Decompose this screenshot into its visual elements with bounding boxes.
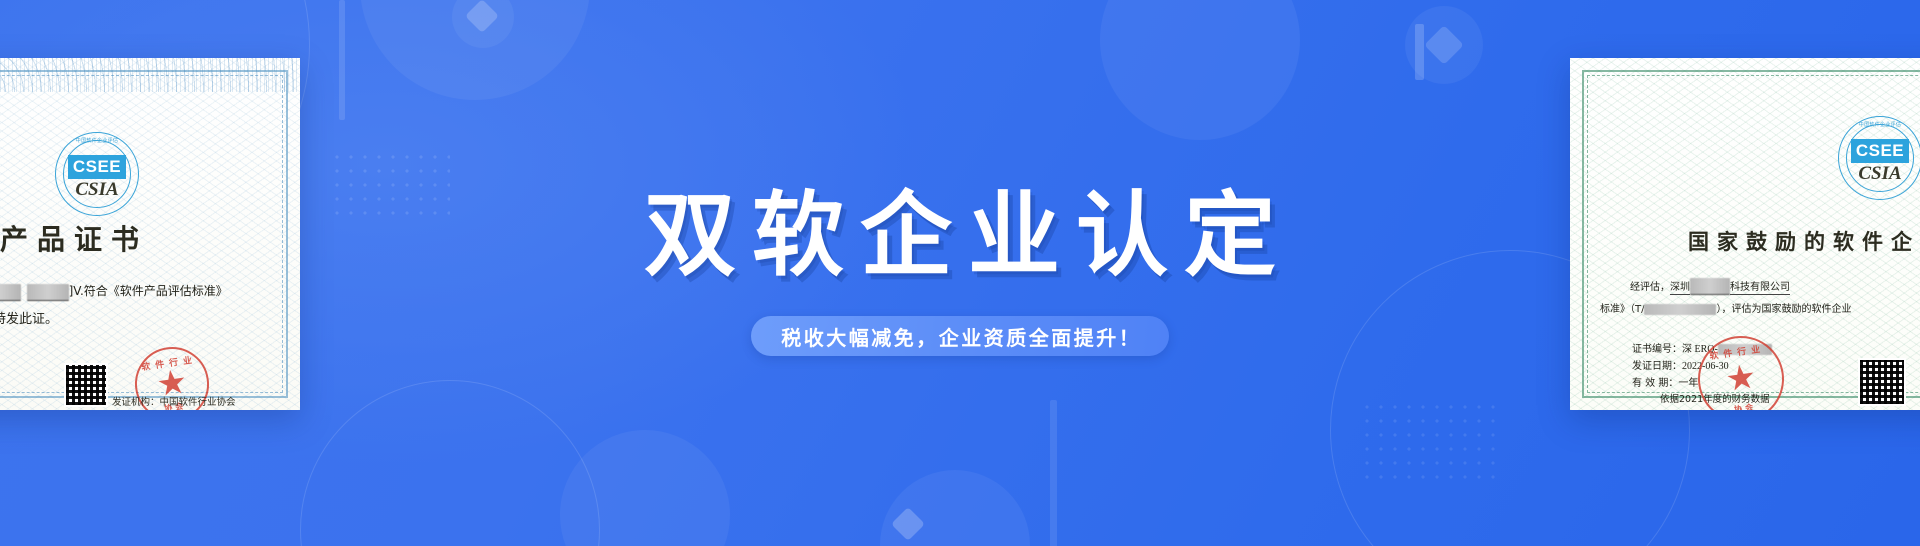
subtitle-badge-label: 税收大幅减免，企业资质全面提升！ xyxy=(779,322,1142,351)
subtitle-badge: 税收大幅减免，企业资质全面提升！ xyxy=(751,316,1170,356)
promo-banner: 中国软件企业评估 CSEE CSIA 软件产品证书 软件[简称：新瑞智卡超级营销… xyxy=(0,0,1920,546)
page-title: 双软企业认定 xyxy=(628,190,1292,282)
banner-center-content: 双软企业认定 税收大幅减免，企业资质全面提升！ xyxy=(0,0,1920,546)
